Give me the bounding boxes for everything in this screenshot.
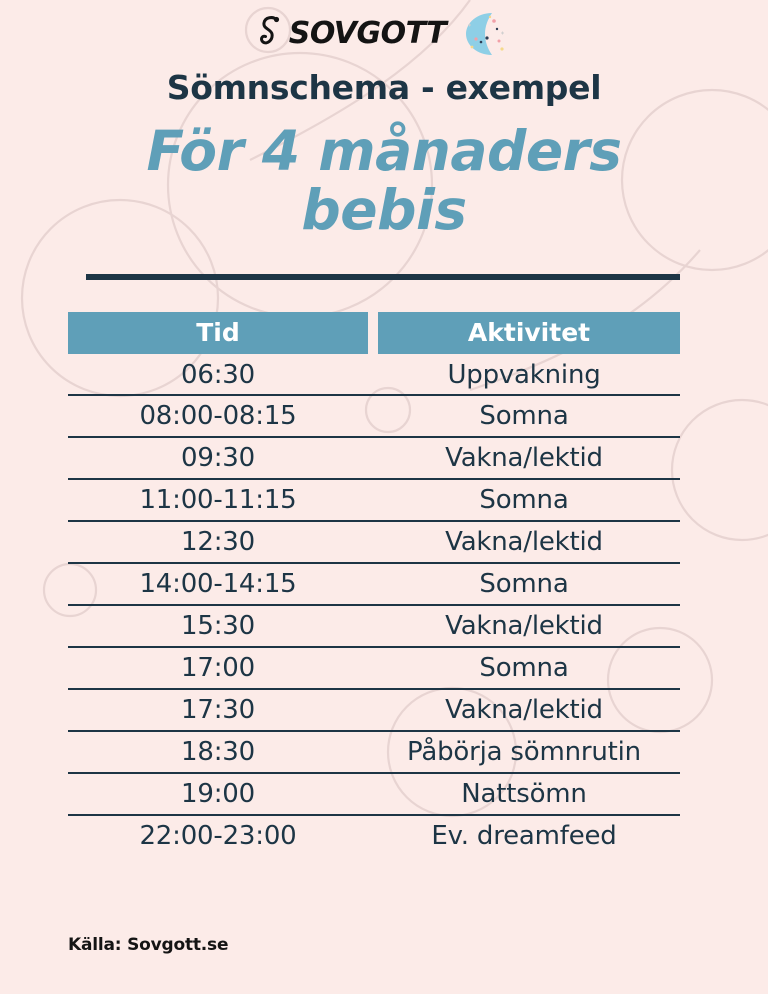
page-subtitle: Sömnschema - exempel bbox=[0, 68, 768, 107]
cell-activity: Somna bbox=[368, 487, 680, 513]
cell-time: 09:30 bbox=[68, 445, 368, 471]
cell-time: 17:30 bbox=[68, 697, 368, 723]
cell-time: 11:00-11:15 bbox=[68, 487, 368, 513]
cell-time: 17:00 bbox=[68, 655, 368, 681]
cell-activity: Vakna/lektid bbox=[368, 697, 680, 723]
table-row: 19:00Nattsömn bbox=[68, 774, 680, 816]
cell-time: 19:00 bbox=[68, 781, 368, 807]
table-row: 17:30Vakna/lektid bbox=[68, 690, 680, 732]
page-title-line2: bebis bbox=[0, 181, 768, 240]
divider-rule bbox=[86, 274, 680, 280]
brand-logo: SOVGOTT bbox=[0, 8, 768, 60]
cell-activity: Somna bbox=[368, 655, 680, 681]
cell-time: 15:30 bbox=[68, 613, 368, 639]
swirl-s-icon bbox=[260, 15, 284, 54]
table-row: 12:30Vakna/lektid bbox=[68, 522, 680, 564]
cell-activity: Somna bbox=[368, 571, 680, 597]
column-header-activity: Aktivitet bbox=[378, 312, 680, 354]
table-row: 14:00-14:15Somna bbox=[68, 564, 680, 606]
cell-time: 22:00-23:00 bbox=[68, 823, 368, 849]
table-row: 17:00Somna bbox=[68, 648, 680, 690]
cell-time: 14:00-14:15 bbox=[68, 571, 368, 597]
page-title-line1: För 4 månaders bbox=[146, 119, 621, 183]
brand-wordmark: SOVGOTT bbox=[289, 19, 447, 49]
cell-activity: Vakna/lektid bbox=[368, 529, 680, 555]
cell-time: 12:30 bbox=[68, 529, 368, 555]
schedule-table: Tid Aktivitet 06:30Uppvakning08:00-08:15… bbox=[68, 312, 680, 856]
table-header-row: Tid Aktivitet bbox=[68, 312, 680, 354]
cell-time: 18:30 bbox=[68, 739, 368, 765]
cell-activity: Uppvakning bbox=[368, 362, 680, 388]
poster-page: SOVGOTT bbox=[0, 0, 768, 994]
cell-activity: Vakna/lektid bbox=[368, 445, 680, 471]
cell-activity: Vakna/lektid bbox=[368, 613, 680, 639]
source-note: Källa: Sovgott.se bbox=[68, 935, 228, 955]
table-row: 09:30Vakna/lektid bbox=[68, 438, 680, 480]
table-row: 22:00-23:00Ev. dreamfeed bbox=[68, 816, 680, 856]
cell-activity: Somna bbox=[368, 403, 680, 429]
table-row: 15:30Vakna/lektid bbox=[68, 606, 680, 648]
table-body: 06:30Uppvakning08:00-08:15Somna09:30Vakn… bbox=[68, 356, 680, 856]
column-header-time: Tid bbox=[68, 312, 368, 354]
table-row: 11:00-11:15Somna bbox=[68, 480, 680, 522]
cell-activity: Nattsömn bbox=[368, 781, 680, 807]
cell-activity: Påbörja sömnrutin bbox=[368, 739, 680, 765]
table-row: 06:30Uppvakning bbox=[68, 356, 680, 396]
table-row: 18:30Påbörja sömnrutin bbox=[68, 732, 680, 774]
page-title: För 4 månaders bebis bbox=[0, 122, 768, 241]
crescent-moon-icon bbox=[454, 11, 508, 57]
cell-time: 06:30 bbox=[68, 362, 368, 388]
table-row: 08:00-08:15Somna bbox=[68, 396, 680, 438]
cell-time: 08:00-08:15 bbox=[68, 403, 368, 429]
cell-activity: Ev. dreamfeed bbox=[368, 823, 680, 849]
